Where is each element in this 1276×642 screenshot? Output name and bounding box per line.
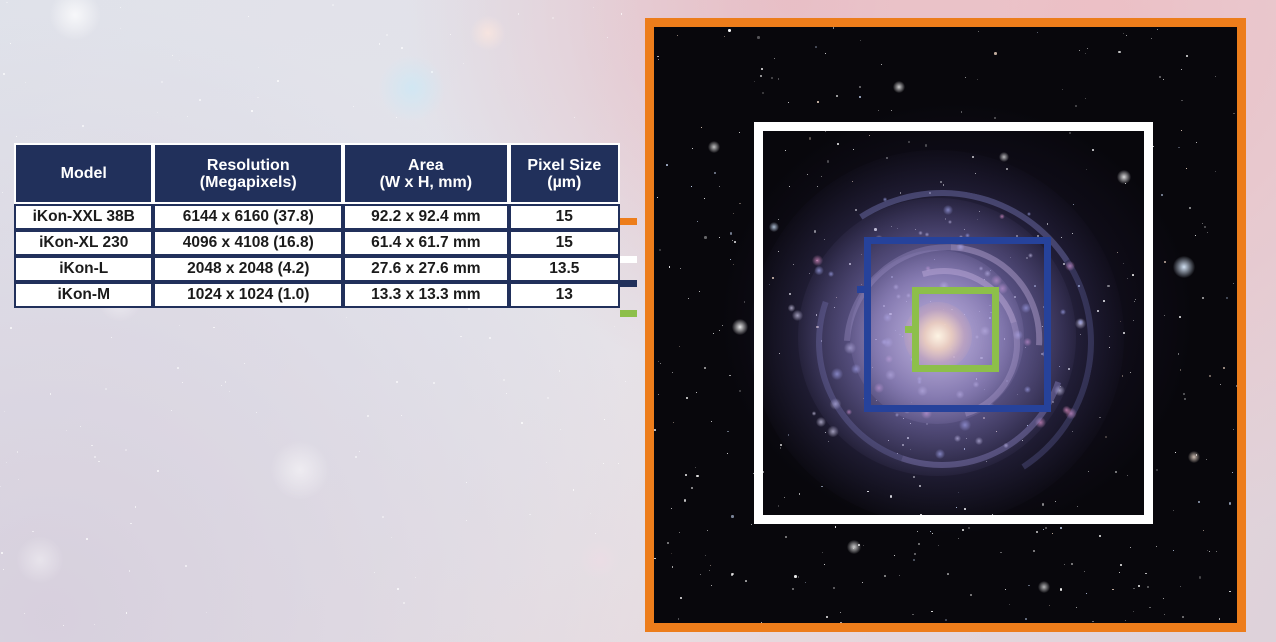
cell-resolution: 4096 x 4108 (16.8) bbox=[153, 230, 343, 256]
table-row: iKon-XL 230 4096 x 4108 (16.8) 61.4 x 61… bbox=[14, 230, 620, 256]
column-header-resolution: Resolution (Megapixels) bbox=[153, 143, 343, 204]
header-resolution-line1: Resolution bbox=[207, 157, 290, 174]
fov-connector-stub-ikon-l bbox=[857, 286, 866, 293]
cell-model: iKon-M bbox=[14, 282, 153, 308]
cell-pixel-size: 13 bbox=[509, 282, 620, 308]
header-pixel-size-line2: (µm) bbox=[511, 174, 618, 191]
header-area-line2: (W x H, mm) bbox=[345, 174, 507, 191]
column-header-pixel-size: Pixel Size (µm) bbox=[509, 143, 620, 204]
table-body: iKon-XXL 38B 6144 x 6160 (37.8) 92.2 x 9… bbox=[14, 204, 620, 308]
fov-rectangle-ikon-m bbox=[912, 287, 999, 372]
cell-area: 27.6 x 27.6 mm bbox=[343, 256, 509, 282]
cell-area: 13.3 x 13.3 mm bbox=[343, 282, 509, 308]
cell-resolution: 2048 x 2048 (4.2) bbox=[153, 256, 343, 282]
cell-model: iKon-XXL 38B bbox=[14, 204, 153, 230]
table-header: Model Resolution (Megapixels) Area (W x … bbox=[14, 143, 620, 204]
header-model-line1: Model bbox=[61, 165, 107, 182]
cell-area: 92.2 x 92.4 mm bbox=[343, 204, 509, 230]
cell-area: 61.4 x 61.7 mm bbox=[343, 230, 509, 256]
fov-connector-stub-ikon-m bbox=[905, 326, 915, 333]
header-pixel-size-line1: Pixel Size bbox=[527, 157, 601, 174]
table-row: iKon-L 2048 x 2048 (4.2) 27.6 x 27.6 mm … bbox=[14, 256, 620, 282]
galaxy-image-panel bbox=[645, 18, 1246, 632]
cell-pixel-size: 13.5 bbox=[509, 256, 620, 282]
header-resolution-line2: (Megapixels) bbox=[155, 174, 341, 191]
cell-resolution: 6144 x 6160 (37.8) bbox=[153, 204, 343, 230]
header-area-line1: Area bbox=[408, 157, 444, 174]
column-header-model: Model bbox=[14, 143, 153, 204]
cell-model: iKon-XL 230 bbox=[14, 230, 153, 256]
cell-model: iKon-L bbox=[14, 256, 153, 282]
column-header-area: Area (W x H, mm) bbox=[343, 143, 509, 204]
cell-pixel-size: 15 bbox=[509, 204, 620, 230]
camera-spec-table: Model Resolution (Megapixels) Area (W x … bbox=[14, 143, 620, 308]
cell-resolution: 1024 x 1024 (1.0) bbox=[153, 282, 343, 308]
table-row: iKon-XXL 38B 6144 x 6160 (37.8) 92.2 x 9… bbox=[14, 204, 620, 230]
cell-pixel-size: 15 bbox=[509, 230, 620, 256]
header-row: Model Resolution (Megapixels) Area (W x … bbox=[14, 143, 620, 204]
table-row: iKon-M 1024 x 1024 (1.0) 13.3 x 13.3 mm … bbox=[14, 282, 620, 308]
